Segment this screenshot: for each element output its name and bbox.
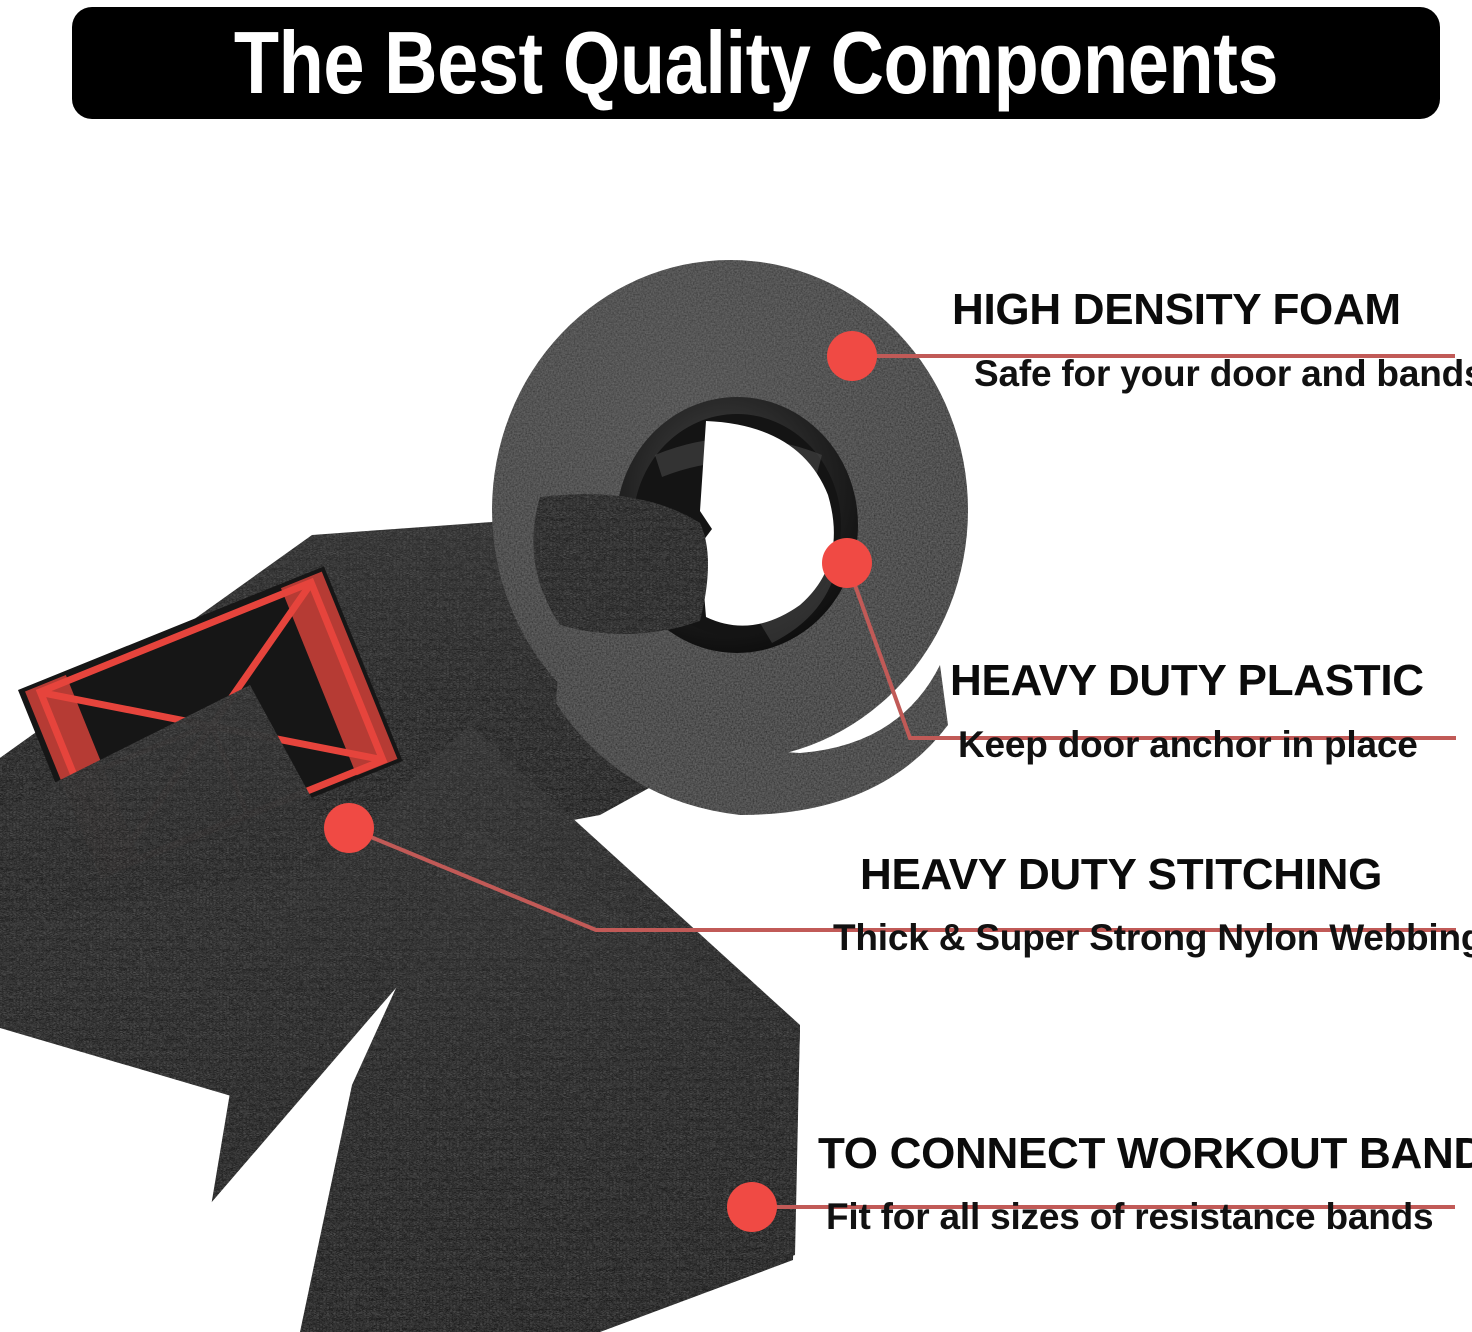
callout-connect-workout-bands: TO CONNECT WORKOUT BANDS Fit for all siz… [818,1131,1472,1237]
callout-heavy-duty-plastic: HEAVY DUTY PLASTIC Keep door anchor in p… [950,658,1424,765]
infographic-page: The Best Quality Components [0,0,1472,1332]
webbing-through-hole [533,494,708,634]
callout-subtitle-connect-workout-bands: Fit for all sizes of resistance bands [826,1198,1472,1237]
callout-subtitle-heavy-duty-stitching: Thick & Super Strong Nylon Webbing [833,919,1472,958]
title-banner: The Best Quality Components [72,7,1440,119]
callout-heavy-duty-stitching: HEAVY DUTY STITCHING Thick & Super Stron… [860,852,1472,958]
page-title: The Best Quality Components [181,7,1330,119]
callout-subtitle-heavy-duty-plastic: Keep door anchor in place [958,726,1424,765]
callout-high-density-foam: HIGH DENSITY FOAM Safe for your door and… [952,287,1472,394]
callout-title-heavy-duty-stitching: HEAVY DUTY STITCHING [860,852,1472,898]
callout-title-heavy-duty-plastic: HEAVY DUTY PLASTIC [950,658,1424,704]
callout-title-high-density-foam: HIGH DENSITY FOAM [952,287,1472,333]
callout-subtitle-high-density-foam: Safe for your door and bands [974,355,1472,394]
callout-title-connect-workout-bands: TO CONNECT WORKOUT BANDS [818,1131,1472,1177]
